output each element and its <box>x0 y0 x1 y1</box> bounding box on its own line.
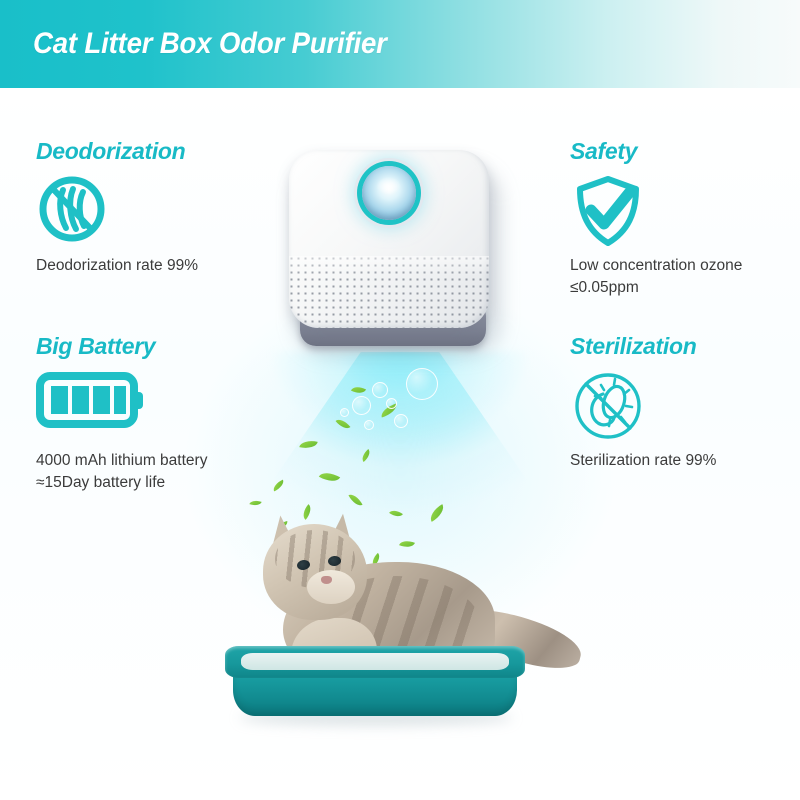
feature-title-big-battery: Big Battery <box>36 333 286 360</box>
no-bacteria-icon <box>570 368 800 444</box>
button-glint <box>376 177 401 195</box>
bubble-particle <box>352 396 371 415</box>
feature-title-sterilization: Sterilization <box>570 333 800 360</box>
cat-nose <box>321 576 332 584</box>
product-infographic: Cat Litter Box Odor Purifier <box>0 0 800 800</box>
battery-full-icon <box>36 368 286 444</box>
odor-purifier-device <box>281 148 503 360</box>
page-title: Cat Litter Box Odor Purifier <box>33 27 387 61</box>
cat-muzzle <box>307 570 355 604</box>
feature-big-battery: Big Battery 4000 mAh lithium battery ≈15… <box>36 333 286 494</box>
bubble-particle <box>394 414 408 428</box>
shield-check-icon <box>570 173 800 249</box>
bubble-particle <box>364 420 374 430</box>
bubble-particle <box>386 398 397 409</box>
feature-title-safety: Safety <box>570 138 800 165</box>
device-body <box>289 150 489 328</box>
power-button-glow-icon <box>362 166 416 220</box>
feature-title-deodorization: Deodorization <box>36 138 286 165</box>
litter-box-rim <box>225 646 525 678</box>
feature-desc-big-battery: 4000 mAh lithium battery ≈15Day battery … <box>36 450 286 494</box>
feature-desc-safety: Low concentration ozone ≤0.05ppm <box>570 255 800 299</box>
cat-litter-box-scene <box>215 498 605 770</box>
feature-deodorization: Deodorization Deodorization rate 99% <box>36 138 286 277</box>
feature-desc-sterilization: Sterilization rate 99% <box>570 450 800 472</box>
no-odor-icon <box>36 173 286 249</box>
bubble-particle <box>372 382 388 398</box>
litter-box-interior <box>241 653 509 670</box>
bubble-particle <box>406 368 438 400</box>
header-banner: Cat Litter Box Odor Purifier <box>0 0 800 88</box>
bubble-particle <box>340 408 349 417</box>
device-grille-fade <box>289 256 489 328</box>
feature-safety: Safety Low concentration ozone ≤0.05ppm <box>570 138 800 299</box>
feature-sterilization: Sterilization Sterilization rate 99% <box>570 333 800 472</box>
feature-desc-deodorization: Deodorization rate 99% <box>36 255 286 277</box>
teal-litter-box <box>225 646 525 730</box>
